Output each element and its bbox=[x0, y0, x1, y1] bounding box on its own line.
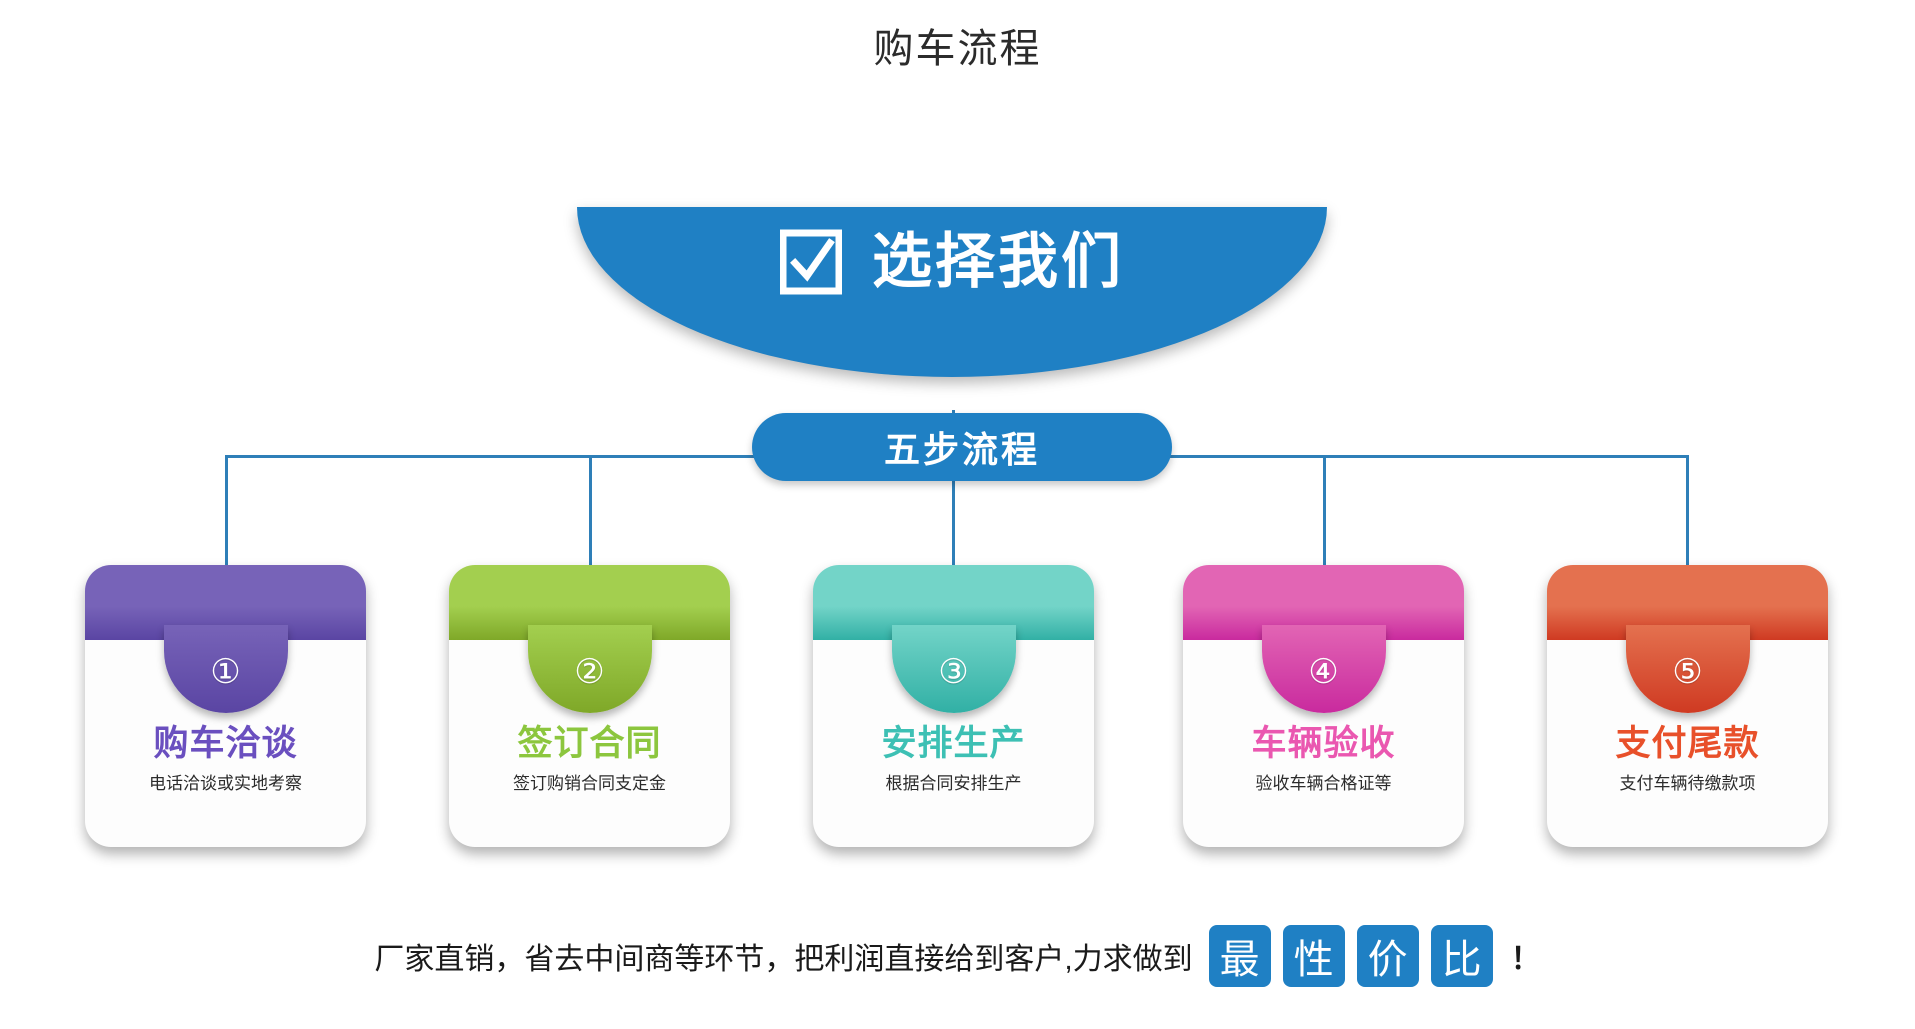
step-card-3[interactable]: ③ 安排生产 根据合同安排生产 bbox=[813, 565, 1094, 847]
card-subtitle: 根据合同安排生产 bbox=[813, 769, 1094, 794]
card-number: ③ bbox=[938, 655, 968, 689]
hero-content: 选择我们 bbox=[780, 229, 1124, 295]
page-title: 购车流程 bbox=[0, 16, 1915, 74]
card-title: 购车洽谈 bbox=[85, 715, 366, 766]
card-number: ⑤ bbox=[1672, 655, 1702, 689]
connector-drop-2 bbox=[589, 455, 592, 567]
five-step-label: 五步流程 bbox=[884, 421, 1040, 473]
step-card-5[interactable]: ⑤ 支付尾款 支付车辆待缴款项 bbox=[1547, 565, 1828, 847]
footer-exclamation: ！ bbox=[1511, 934, 1541, 978]
five-step-pill[interactable]: 五步流程 bbox=[752, 413, 1172, 481]
card-subtitle: 签订购销合同支定金 bbox=[449, 769, 730, 794]
footer-text: 厂家直销，省去中间商等环节，把利润直接给到客户,力求做到 bbox=[374, 934, 1192, 978]
footer-chip: 价 bbox=[1357, 925, 1419, 987]
slide-canvas: 购车流程 选择我们 五步流程 ① 购车洽谈 电话洽谈 bbox=[0, 0, 1915, 1029]
step-card-2[interactable]: ② 签订合同 签订购销合同支定金 bbox=[449, 565, 730, 847]
checkbox-checked-icon bbox=[780, 229, 842, 295]
card-subtitle: 支付车辆待缴款项 bbox=[1547, 769, 1828, 794]
footer-chip: 比 bbox=[1431, 925, 1493, 987]
card-subtitle: 电话洽谈或实地考察 bbox=[85, 769, 366, 794]
card-title: 支付尾款 bbox=[1547, 715, 1828, 766]
steps-container: ① 购车洽谈 电话洽谈或实地考察 ② 签订合同 签订购销合同支定金 ③ 安 bbox=[0, 565, 1915, 855]
connector-drop-1 bbox=[225, 455, 228, 567]
card-title: 安排生产 bbox=[813, 715, 1094, 766]
card-number: ② bbox=[574, 655, 604, 689]
step-card-1[interactable]: ① 购车洽谈 电话洽谈或实地考察 bbox=[85, 565, 366, 847]
hero-dome-banner: 选择我们 bbox=[577, 207, 1327, 377]
footer-chip: 性 bbox=[1283, 925, 1345, 987]
card-number: ① bbox=[210, 655, 240, 689]
connector-drop-4 bbox=[1323, 455, 1326, 567]
card-number: ④ bbox=[1308, 655, 1338, 689]
footer-tagline: 厂家直销，省去中间商等环节，把利润直接给到客户,力求做到 最 性 价 比 ！ bbox=[0, 925, 1915, 987]
step-card-4[interactable]: ④ 车辆验收 验收车辆合格证等 bbox=[1183, 565, 1464, 847]
card-title: 签订合同 bbox=[449, 715, 730, 766]
footer-chips: 最 性 价 比 bbox=[1209, 925, 1493, 987]
card-title: 车辆验收 bbox=[1183, 715, 1464, 766]
connector-drop-5 bbox=[1686, 455, 1689, 567]
hero-label: 选择我们 bbox=[872, 232, 1124, 292]
card-subtitle: 验收车辆合格证等 bbox=[1183, 769, 1464, 794]
footer-chip: 最 bbox=[1209, 925, 1271, 987]
